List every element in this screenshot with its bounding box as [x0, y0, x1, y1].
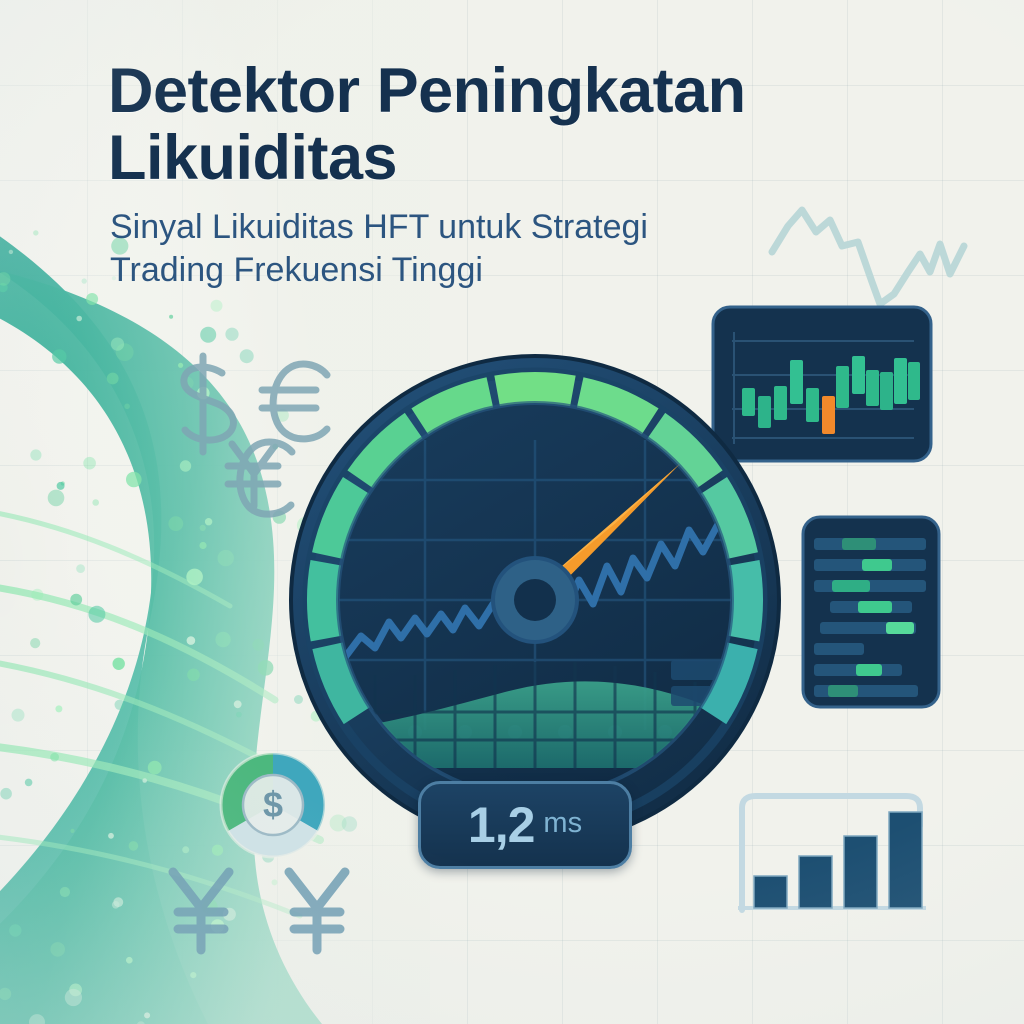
poster-canvas: $ [0, 0, 1024, 1024]
orderbook-data-panel[interactable] [800, 514, 942, 710]
yen-icon-left [173, 872, 229, 950]
dollar-icon [184, 356, 234, 452]
down-candle [822, 396, 835, 434]
latency-reading-badge[interactable]: 1,2 ms [418, 781, 632, 869]
page-title: Detektor Peningkatan Likuiditas [108, 58, 928, 192]
headline-block: Detektor Peningkatan Likuiditas Sinyal L… [108, 58, 928, 293]
latency-unit: ms [543, 809, 582, 842]
yen-icon-right [289, 872, 345, 950]
page-subtitle: Sinyal Likuiditas HFT untuk Strategi Tra… [110, 206, 928, 293]
latency-value: 1,2 [468, 800, 535, 850]
